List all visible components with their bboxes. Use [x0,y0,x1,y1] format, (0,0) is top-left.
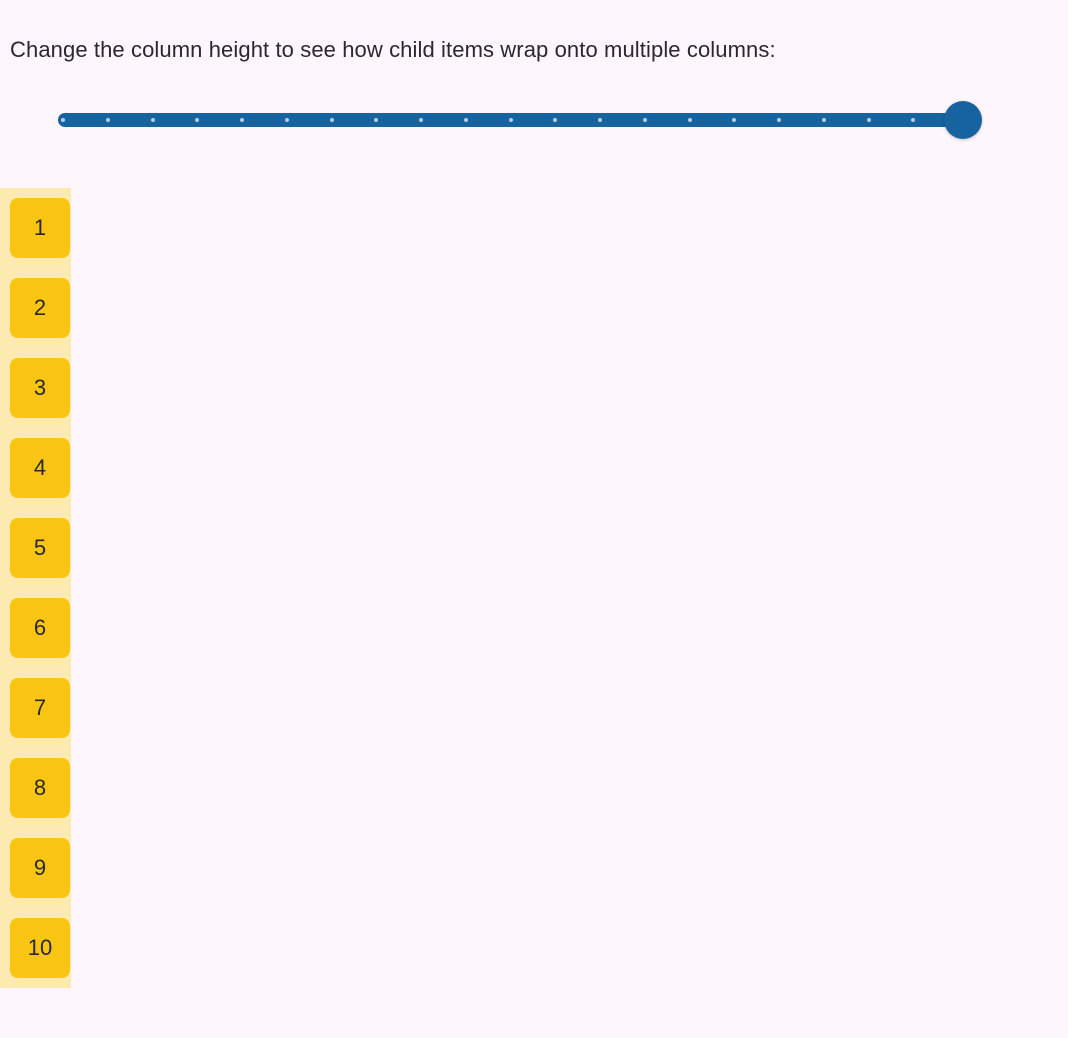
page-title: Change the column height to see how chil… [10,35,776,65]
flex-item: 1 [10,198,70,258]
flex-item-label: 5 [34,537,46,559]
flex-item: 4 [10,438,70,498]
flex-item-label: 4 [34,457,46,479]
flex-item: 2 [10,278,70,338]
flex-item-label: 8 [34,777,46,799]
flex-item: 10 [10,918,70,978]
flex-item-label: 3 [34,377,46,399]
flex-item: 6 [10,598,70,658]
flex-item-label: 6 [34,617,46,639]
flex-item-label: 10 [28,937,52,959]
flex-item: 5 [10,518,70,578]
column-height-slider[interactable] [58,106,983,134]
flex-item-label: 7 [34,697,46,719]
flex-column-container: 12345678910 [0,188,71,988]
flex-item-label: 1 [34,217,46,239]
flex-item-label: 2 [34,297,46,319]
flex-item: 8 [10,758,70,818]
flex-item: 3 [10,358,70,418]
flex-item: 9 [10,838,70,898]
flex-item: 7 [10,678,70,738]
flex-item-label: 9 [34,857,46,879]
